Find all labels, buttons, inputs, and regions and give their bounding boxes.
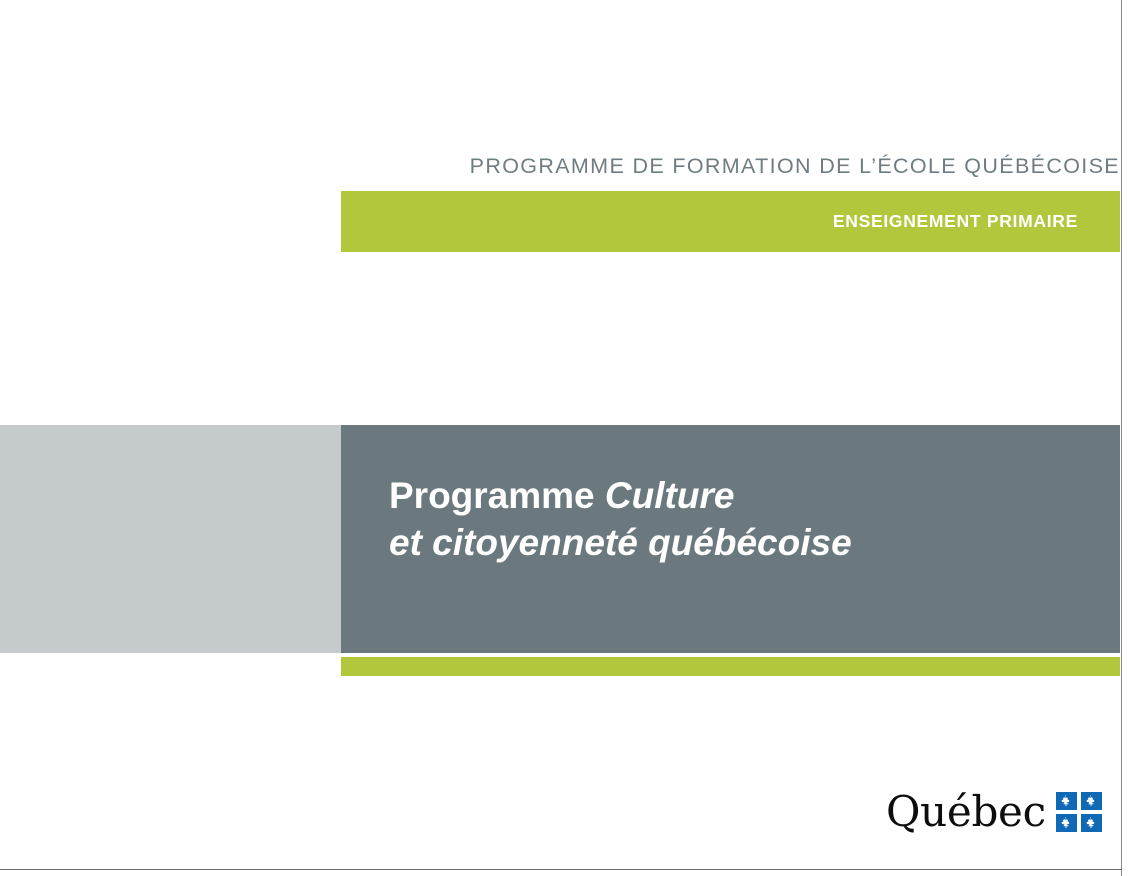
page-title-line-2: et citoyenneté québécoise [389, 519, 1089, 566]
education-level-label: ENSEIGNEMENT PRIMAIRE [833, 211, 1078, 232]
quebec-fleur-de-lis-flag-icon [1056, 792, 1102, 832]
fleur-de-lis-tile-4 [1081, 814, 1102, 832]
title-band-left-accent [0, 425, 341, 653]
page-title: Programme Culture et citoyenneté québéco… [389, 472, 1089, 566]
document-page: PROGRAMME DE FORMATION DE L’ÉCOLE QUÉBÉC… [0, 0, 1132, 876]
quebec-government-logo: Québec [886, 786, 1102, 838]
page-title-line-1: Programme Culture [389, 472, 1089, 519]
program-eyebrow-title: PROGRAMME DE FORMATION DE L’ÉCOLE QUÉBÉC… [341, 150, 1120, 182]
fleur-de-lis-tile-1 [1056, 792, 1077, 810]
page-title-word-programme: Programme [389, 475, 605, 516]
page-title-word-culture: Culture [605, 475, 735, 516]
page-border-bottom [0, 869, 1122, 870]
quebec-wordmark: Québec [886, 791, 1046, 833]
title-underline-bar [341, 657, 1120, 676]
fleur-de-lis-tile-2 [1081, 792, 1102, 810]
fleur-de-lis-tile-3 [1056, 814, 1077, 832]
education-level-bar: ENSEIGNEMENT PRIMAIRE [341, 191, 1120, 252]
page-border-right [1121, 0, 1122, 876]
